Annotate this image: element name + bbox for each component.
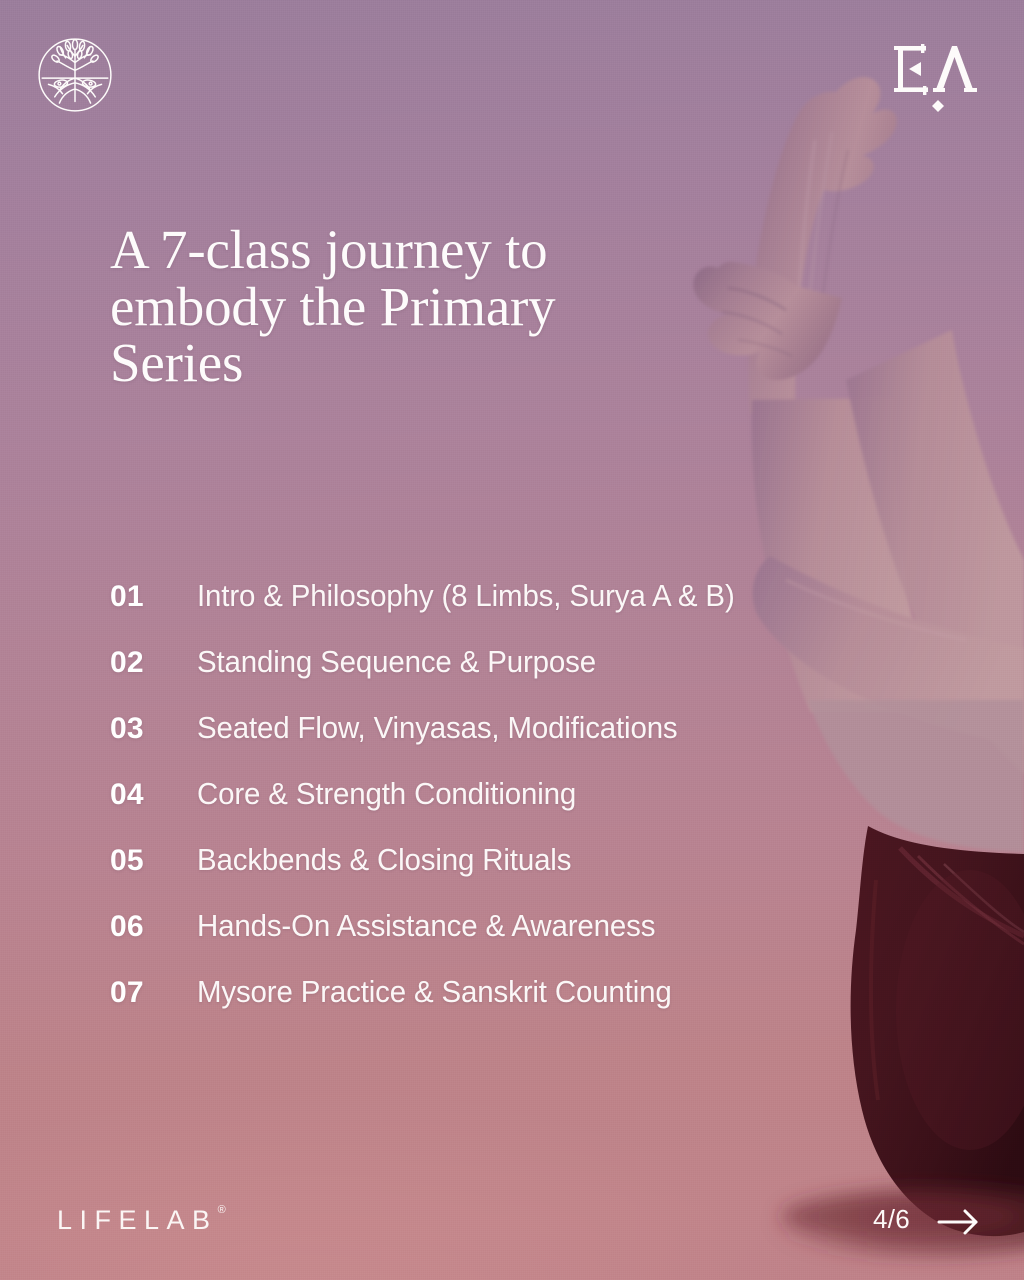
list-item: 06 Hands-On Assistance & Awareness — [110, 908, 900, 974]
page-indicator: 4/6 — [873, 1204, 910, 1235]
slide-canvas: A 7-class journey to embody the Primary … — [0, 0, 1024, 1280]
list-item-label: Core & Strength Conditioning — [197, 776, 576, 812]
list-item: 01 Intro & Philosophy (8 Limbs, Surya A … — [110, 578, 900, 644]
brand-wordmark: LIFELAB® — [57, 1205, 226, 1236]
list-item: 03 Seated Flow, Vinyasas, Modifications — [110, 710, 900, 776]
trademark-symbol: ® — [218, 1204, 226, 1216]
list-item: 07 Mysore Practice & Sanskrit Counting — [110, 974, 900, 1040]
list-item-number: 01 — [110, 580, 197, 614]
list-item-label: Intro & Philosophy (8 Limbs, Surya A & B… — [197, 578, 735, 614]
arrow-right-icon[interactable] — [936, 1208, 982, 1236]
list-item-number: 05 — [110, 844, 197, 878]
list-item: 02 Standing Sequence & Purpose — [110, 644, 900, 710]
ea-monogram-logo[interactable] — [890, 38, 982, 112]
list-item-label: Seated Flow, Vinyasas, Modifications — [197, 710, 678, 746]
brand-name: LIFELAB — [57, 1205, 218, 1235]
list-item: 04 Core & Strength Conditioning — [110, 776, 900, 842]
list-item-number: 04 — [110, 778, 197, 812]
list-item-label: Hands-On Assistance & Awareness — [197, 908, 655, 944]
tree-of-life-logo[interactable] — [36, 36, 114, 114]
list-item-label: Backbends & Closing Rituals — [197, 842, 571, 878]
list-item-number: 06 — [110, 910, 197, 944]
list-item-label: Standing Sequence & Purpose — [197, 644, 596, 680]
list-item: 05 Backbends & Closing Rituals — [110, 842, 900, 908]
list-item-number: 02 — [110, 646, 197, 680]
curriculum-list: 01 Intro & Philosophy (8 Limbs, Surya A … — [110, 578, 900, 1040]
list-item-number: 07 — [110, 976, 197, 1010]
list-item-label: Mysore Practice & Sanskrit Counting — [197, 974, 672, 1010]
page-title: A 7-class journey to embody the Primary … — [110, 222, 630, 392]
list-item-number: 03 — [110, 712, 197, 746]
